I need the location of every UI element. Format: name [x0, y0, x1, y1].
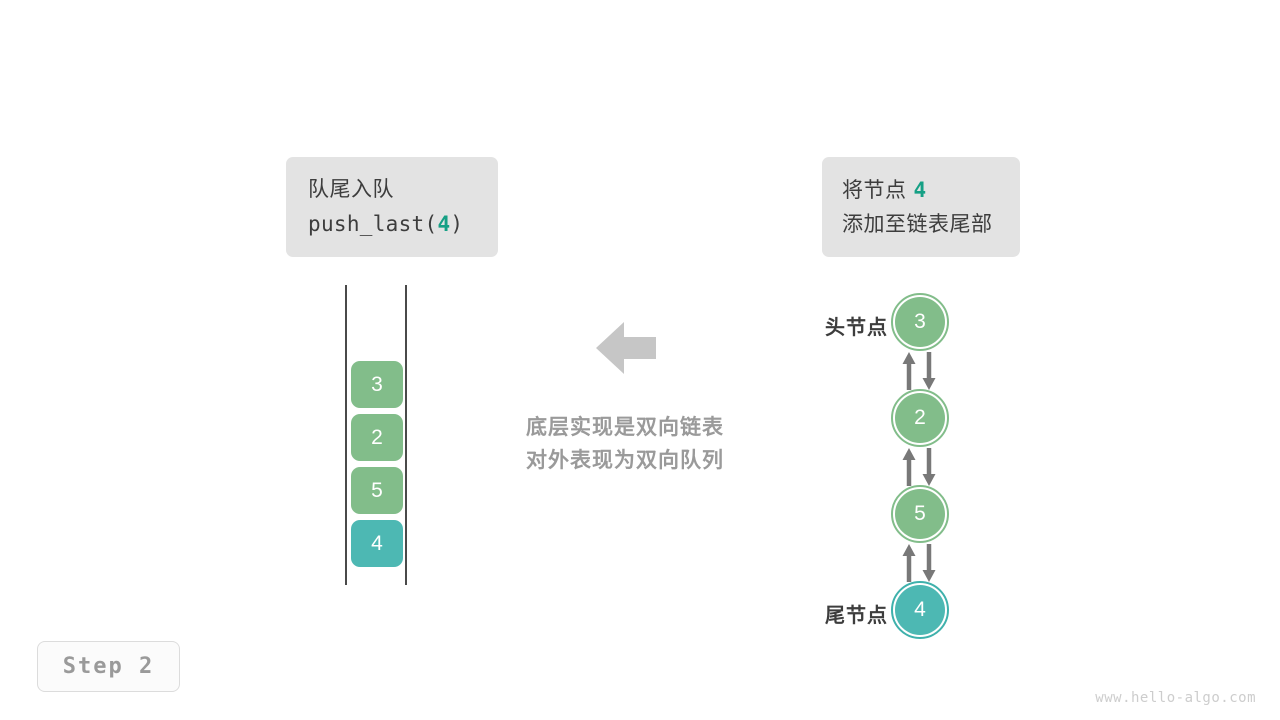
node-value: 3	[914, 310, 926, 334]
bidirectional-link-arrows-icon	[900, 448, 940, 488]
deque-cell-value: 5	[371, 479, 383, 503]
linked-list-node-tail: 4	[889, 579, 951, 641]
description-highlight-value: 4	[907, 178, 927, 202]
code-prefix: push_last(	[308, 212, 437, 236]
tail-node-label: 尾节点	[778, 599, 888, 628]
deque-cell: 2	[351, 414, 403, 461]
deque-cell-value: 3	[371, 373, 383, 397]
deque-cell: 3	[351, 361, 403, 408]
operation-title: 队尾入队	[308, 179, 476, 200]
description-label-card: 将节点4 添加至链表尾部	[822, 157, 1020, 257]
operation-label-card: 队尾入队 push_last(4)	[286, 157, 498, 257]
description-line-2: 添加至链表尾部	[842, 214, 1000, 235]
diagram-caption: 底层实现是双向链表 对外表现为双向队列	[480, 412, 770, 477]
deque-rail-left	[345, 285, 347, 585]
step-badge: Step 2	[37, 641, 180, 692]
deque-cell-new: 4	[351, 520, 403, 567]
description-text-1: 将节点	[842, 179, 907, 202]
code-value: 4	[437, 212, 450, 236]
left-arrow-icon	[596, 320, 656, 376]
caption-line-1: 底层实现是双向链表	[480, 412, 770, 445]
head-node-label: 头节点	[778, 311, 888, 340]
deque-rail-right	[405, 285, 407, 585]
deque-cell-value: 4	[371, 532, 383, 556]
bidirectional-link-arrows-icon	[900, 544, 940, 584]
description-line-1: 将节点4	[842, 180, 1000, 201]
node-value: 4	[914, 598, 926, 622]
node-value: 2	[914, 406, 926, 430]
bidirectional-link-arrows-icon	[900, 352, 940, 392]
deque-cell-list: 3 2 5 4	[351, 361, 403, 567]
watermark: www.hello-algo.com	[1095, 690, 1256, 706]
code-suffix: )	[450, 212, 463, 236]
linked-list-node-head: 3	[889, 291, 951, 353]
deque-container: 3 2 5 4	[345, 285, 409, 585]
deque-cell: 5	[351, 467, 403, 514]
linked-list-node: 5	[889, 483, 951, 545]
operation-code: push_last(4)	[308, 214, 476, 235]
deque-push-last-diagram: { "operation_card": { "title": "队尾入队", "…	[0, 0, 1280, 720]
deque-cell-value: 2	[371, 426, 383, 450]
linked-list-node: 2	[889, 387, 951, 449]
caption-line-2: 对外表现为双向队列	[480, 445, 770, 478]
node-value: 5	[914, 502, 926, 526]
